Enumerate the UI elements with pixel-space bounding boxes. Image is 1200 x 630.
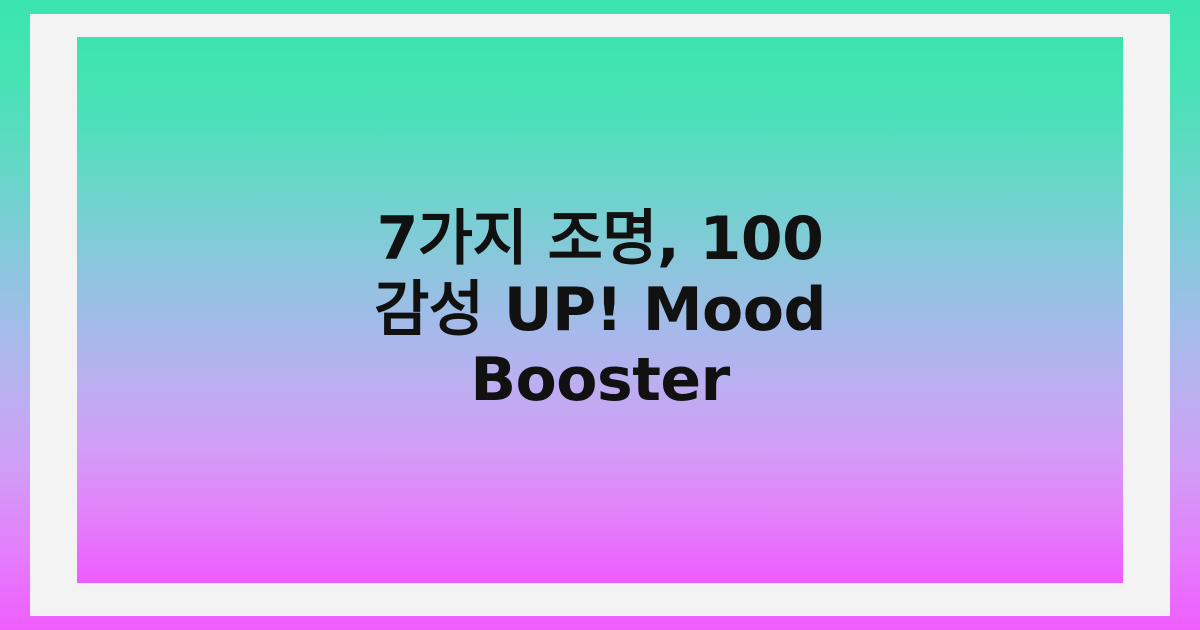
- title-area: 7가지 조명, 100 감성 UP! Mood Booster: [80, 40, 1120, 580]
- page-title: 7가지 조명, 100 감성 UP! Mood Booster: [340, 204, 860, 416]
- thumbnail-card: 5 5 5 5: [0, 0, 1200, 630]
